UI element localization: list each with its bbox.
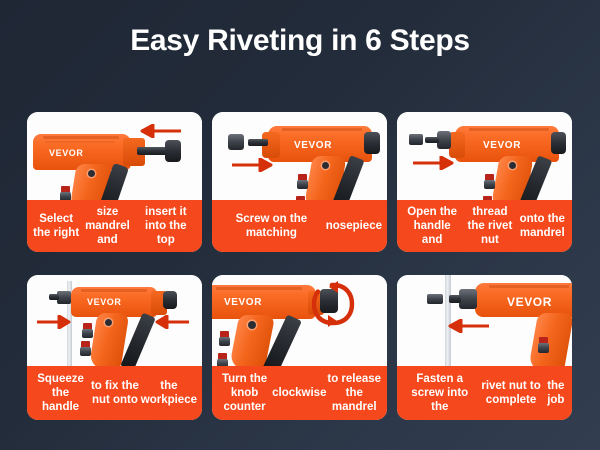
caption-line: Open the handle and xyxy=(402,205,462,247)
squeeze-arrows-icon xyxy=(35,315,71,329)
caption-line: Squeeze the handle xyxy=(32,372,89,414)
step-image-6: VEVOR xyxy=(397,275,572,366)
vent-line xyxy=(45,141,115,143)
rivet-nut xyxy=(538,343,549,353)
mandrel-knob xyxy=(165,140,181,162)
right-arrow-icon xyxy=(411,156,455,170)
caption-line: size mandrel and xyxy=(80,205,134,247)
screw-dot xyxy=(105,319,112,326)
caption-line: the workpiece xyxy=(141,379,197,407)
rivet-nut xyxy=(80,347,91,356)
mandrel-knob xyxy=(364,132,380,154)
vent-line xyxy=(469,128,549,131)
step-caption-4: Squeeze the handle to fix the nut onto t… xyxy=(27,366,202,420)
step-caption-1: Select the right size mandrel and insert… xyxy=(27,200,202,252)
screw-dot xyxy=(322,162,329,169)
step-caption-3: Open the handle and thread the rivet nut… xyxy=(397,200,572,252)
squeeze-arrows-icon xyxy=(155,315,191,329)
rivet-nut xyxy=(484,180,495,189)
caption-line: rivet nut to complete xyxy=(477,379,544,407)
step-card-1[interactable]: VEVOR xyxy=(27,112,202,252)
left-arrow-icon xyxy=(139,124,183,138)
step-card-5[interactable]: VEVOR xyxy=(212,275,387,420)
brand-label: VEVOR xyxy=(507,295,552,309)
caption-line: Select the right xyxy=(32,212,80,240)
vent-line xyxy=(489,285,569,288)
caption-line: onto the mandrel xyxy=(518,212,567,240)
page-title: Easy Riveting in 6 Steps xyxy=(0,24,600,58)
vent-line xyxy=(43,136,119,139)
step-caption-5: Turn the knob counter clockwise to relea… xyxy=(212,366,387,420)
screw xyxy=(427,294,443,304)
nosepiece xyxy=(459,289,477,309)
vent-line xyxy=(282,128,362,131)
caption-line: nosepiece xyxy=(326,219,382,233)
mandrel-shaft xyxy=(425,137,439,143)
mandrel-shaft xyxy=(449,295,461,303)
red-indicator xyxy=(483,196,492,200)
step-card-3[interactable]: VEVOR xyxy=(397,112,572,252)
brand-label: VEVOR xyxy=(87,297,122,307)
step-image-4: VEVOR xyxy=(27,275,202,366)
brand-label: VEVOR xyxy=(294,140,332,151)
rivet-nut xyxy=(82,329,93,338)
step-card-2[interactable]: VEVOR xyxy=(212,112,387,252)
rivet-nut xyxy=(297,180,308,189)
brand-label: VEVOR xyxy=(49,148,84,158)
step-image-1: VEVOR xyxy=(27,112,202,200)
nosepiece xyxy=(228,134,244,150)
caption-line: thread the rivet nut xyxy=(462,205,517,247)
step-image-5: VEVOR xyxy=(212,275,387,366)
caption-line: to release the mandrel xyxy=(326,372,382,414)
rivet-nut xyxy=(217,359,228,366)
caption-line: to fix the nut onto xyxy=(89,379,141,407)
nosepiece xyxy=(437,131,451,149)
step-image-2: VEVOR xyxy=(212,112,387,200)
infographic-poster: Easy Riveting in 6 Steps VEVOR xyxy=(0,0,600,450)
step-caption-6: Fasten a screw into the rivet nut to com… xyxy=(397,366,572,420)
rivet-nut xyxy=(60,192,71,200)
brand-label: VEVOR xyxy=(224,297,262,308)
mandrel-shaft xyxy=(49,294,59,300)
mandrel-shaft xyxy=(248,139,268,146)
caption-line: Turn the knob counter xyxy=(217,372,272,414)
steps-grid: VEVOR xyxy=(27,112,573,420)
caption-line: insert it into the top xyxy=(135,205,197,247)
left-arrow-icon xyxy=(447,319,491,333)
step-card-4[interactable]: VEVOR xyxy=(27,275,202,420)
rivet-nut xyxy=(219,337,230,346)
vent-line xyxy=(216,287,302,290)
rivet-nut xyxy=(409,134,423,145)
vent-line xyxy=(81,289,147,292)
screw-dot xyxy=(509,162,516,169)
tool-grip xyxy=(528,313,572,366)
step-card-6[interactable]: VEVOR Fasten a screw into the ri xyxy=(397,275,572,420)
mandrel-knob xyxy=(163,291,177,309)
step-image-3: VEVOR xyxy=(397,112,572,200)
caption-line: clockwise xyxy=(272,386,326,400)
caption-line: the job xyxy=(545,379,567,407)
rivet-nut xyxy=(57,291,71,304)
counter-clockwise-arrow-icon xyxy=(310,279,356,329)
brand-label: VEVOR xyxy=(483,140,521,151)
red-indicator xyxy=(296,196,305,200)
step-caption-2: Screw on the matching nosepiece xyxy=(212,200,387,252)
caption-line: Fasten a screw into the xyxy=(402,372,477,414)
mandrel-knob xyxy=(551,132,566,154)
screw-dot xyxy=(88,170,95,177)
right-arrow-icon xyxy=(230,158,274,172)
tool-nose xyxy=(449,132,465,158)
screw-dot xyxy=(248,321,256,329)
mandrel-shaft xyxy=(137,147,167,155)
caption-line: Screw on the matching xyxy=(217,212,326,240)
